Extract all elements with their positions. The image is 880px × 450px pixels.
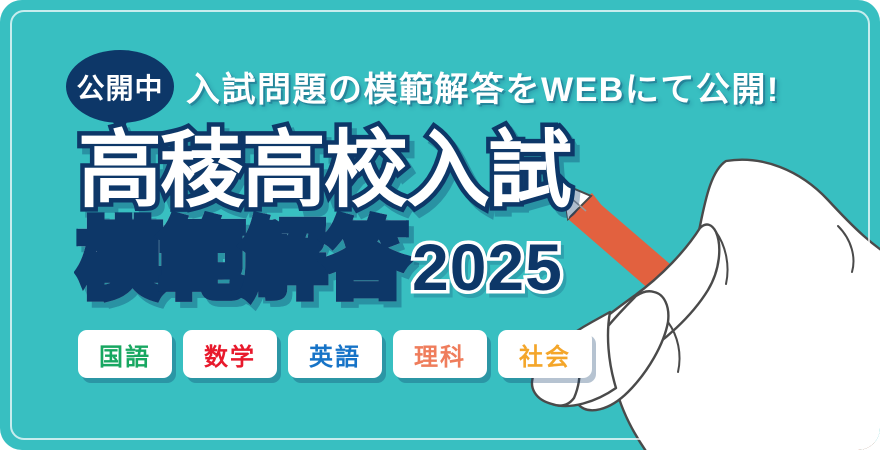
- headline-line-2-text: 模範解答: [78, 213, 406, 307]
- subject-chip-english[interactable]: 英語: [288, 330, 382, 378]
- headline-line-1: 高稜高校入試: [78, 123, 570, 217]
- subject-chip-social-studies[interactable]: 社会: [498, 330, 592, 378]
- banner-headline: 高稜高校入試 模範解答2025: [78, 128, 570, 302]
- subject-chip-label: 数学: [204, 337, 256, 372]
- headline-year: 2025: [412, 234, 563, 300]
- subject-chip-label: 英語: [309, 337, 361, 372]
- subject-chip-math[interactable]: 数学: [183, 330, 277, 378]
- headline-year-text: 2025: [412, 230, 563, 304]
- subject-chip-list: 国語 数学 英語 理科 社会: [78, 330, 592, 378]
- subject-chip-label: 社会: [519, 337, 571, 372]
- banner-subtitle: 入試問題の模範解答をWEBにて公開!: [186, 62, 780, 111]
- status-badge: 公開中: [66, 50, 174, 123]
- subject-chip-japanese[interactable]: 国語: [78, 330, 172, 378]
- subject-chip-science[interactable]: 理科: [393, 330, 487, 378]
- subject-chip-label: 国語: [99, 337, 151, 372]
- headline-row-1: 高稜高校入試: [78, 128, 570, 212]
- headline-line-2: 模範解答: [78, 218, 406, 302]
- promo-banner: 公開中 入試問題の模範解答をWEBにて公開! 高稜高校入試 模範解答2025 国…: [0, 0, 880, 450]
- badge-label: 公開中: [66, 50, 174, 123]
- subject-chip-label: 理科: [414, 337, 466, 372]
- headline-row-2: 模範解答2025: [78, 218, 570, 302]
